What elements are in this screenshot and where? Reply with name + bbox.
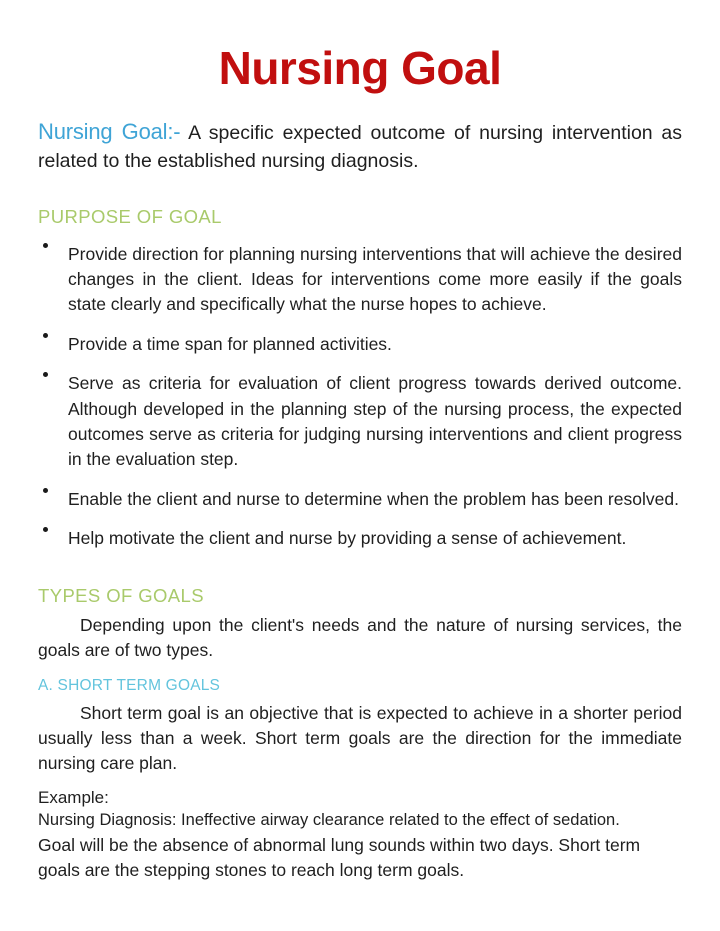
list-item-text: Help motivate the client and nurse by pr… <box>68 528 626 548</box>
list-item: Help motivate the client and nurse by pr… <box>38 526 682 551</box>
purpose-bullet-list: Provide direction for planning nursing i… <box>38 242 682 552</box>
example-nursing-diagnosis: Nursing Diagnosis: Ineffective airway cl… <box>38 809 682 832</box>
list-item-text: Serve as criteria for evaluation of clie… <box>68 373 682 469</box>
bullet-dot-icon <box>43 372 48 377</box>
definition-paragraph: Nursing Goal:- A specific expected outco… <box>38 116 682 175</box>
list-item: Serve as criteria for evaluation of clie… <box>38 371 682 473</box>
example-label: Example: <box>38 776 682 810</box>
bullet-dot-icon <box>43 333 48 338</box>
bullet-dot-icon <box>43 488 48 493</box>
short-term-description: Short term goal is an objective that is … <box>38 695 682 776</box>
list-item-text: Provide a time span for planned activiti… <box>68 334 392 354</box>
document-page: Nursing Goal Nursing Goal:- A specific e… <box>0 0 720 931</box>
section-heading-purpose: PURPOSE OF GOAL <box>38 206 682 228</box>
definition-lead-term: Nursing Goal:- <box>38 119 180 144</box>
example-goal-text: Goal will be the absence of abnormal lun… <box>38 833 682 883</box>
list-item-text: Provide direction for planning nursing i… <box>68 244 682 315</box>
list-item: Provide a time span for planned activiti… <box>38 332 682 357</box>
section-heading-types: TYPES OF GOALS <box>38 585 682 607</box>
bullet-dot-icon <box>43 527 48 532</box>
bullet-dot-icon <box>43 243 48 248</box>
types-intro-paragraph: Depending upon the client's needs and th… <box>38 607 682 663</box>
list-item-text: Enable the client and nurse to determine… <box>68 489 679 509</box>
page-title: Nursing Goal <box>38 0 682 92</box>
subsection-heading-short-term-goals: A. SHORT TERM GOALS <box>38 663 682 695</box>
list-item: Provide direction for planning nursing i… <box>38 242 682 318</box>
list-item: Enable the client and nurse to determine… <box>38 487 682 512</box>
